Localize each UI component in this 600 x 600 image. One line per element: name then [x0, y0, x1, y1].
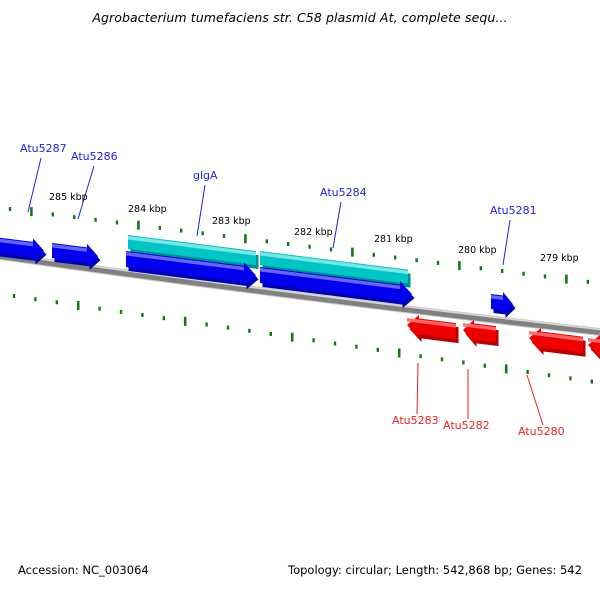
ruler-tick-label: 279 kbp [540, 253, 579, 264]
ruler-minor-tick [394, 256, 396, 260]
ruler-major-tick [30, 207, 33, 216]
ruler-minor-tick [34, 297, 36, 301]
ruler-minor-tick [73, 215, 75, 219]
ruler-minor-tick [373, 253, 375, 257]
ruler-minor-tick [544, 274, 546, 278]
gene-feature[interactable] [407, 315, 459, 343]
ruler-minor-tick [462, 361, 464, 365]
genome-map-canvas[interactable]: 285 kbp284 kbp283 kbp282 kbp281 kbp280 k… [0, 34, 600, 550]
ruler-minor-tick [484, 364, 486, 368]
ruler-minor-tick [223, 234, 225, 238]
ruler-minor-tick [330, 247, 332, 251]
gene-label[interactable]: glgA [193, 169, 218, 182]
ruler-minor-tick [205, 323, 207, 327]
ruler-minor-tick [591, 380, 593, 384]
gene-label[interactable]: Atu5281 [490, 204, 537, 217]
ruler-minor-tick [334, 342, 336, 346]
label-leader-line [197, 185, 205, 236]
ruler-tick-label: 284 kbp [128, 204, 167, 215]
label-leader-line [333, 202, 341, 248]
ruler-minor-tick [569, 376, 571, 380]
ruler-minor-tick [526, 370, 528, 374]
ruler-minor-tick [248, 329, 250, 333]
accession-text: Accession: NC_003064 [18, 563, 149, 577]
ruler-major-tick [244, 234, 247, 243]
ruler-tick-label: 280 kbp [458, 245, 497, 256]
ruler-minor-tick [227, 326, 229, 330]
ruler-minor-tick [587, 280, 589, 284]
ruler-major-tick [77, 301, 80, 310]
ruler-major-tick [291, 333, 294, 342]
gene-feature[interactable] [588, 335, 600, 362]
ruler-minor-tick [201, 231, 203, 235]
ruler-minor-tick [266, 239, 268, 243]
ruler-minor-tick [377, 348, 379, 352]
ruler-minor-tick [270, 332, 272, 336]
ruler-major-tick [565, 275, 568, 284]
gene-label[interactable]: Atu5283 [392, 414, 439, 427]
ruler-minor-tick [308, 245, 310, 249]
ruler-tick-label: 285 kbp [49, 192, 88, 203]
gene-label[interactable]: Atu5287 [20, 142, 67, 155]
ruler-major-tick [351, 248, 354, 257]
ruler-minor-tick [501, 269, 503, 273]
ruler-minor-tick [94, 218, 96, 222]
ruler-minor-tick [120, 310, 122, 314]
ruler-major-tick [137, 221, 140, 230]
gene-label[interactable]: Atu5286 [71, 150, 118, 163]
gene-feature[interactable] [463, 320, 499, 347]
window-title-bar: Agrobacterium tumefaciens str. C58 plasm… [0, 0, 600, 34]
ruler-minor-tick [312, 338, 314, 342]
label-leader-line [527, 375, 543, 425]
gene-label[interactable]: Atu5280 [518, 425, 565, 438]
ruler-minor-tick [437, 261, 439, 265]
ruler-minor-tick [522, 272, 524, 276]
ruler-minor-tick [13, 294, 15, 298]
ruler-minor-tick [415, 258, 417, 262]
ruler-minor-tick [441, 357, 443, 361]
gene-feature-body[interactable] [407, 315, 456, 339]
gene-label[interactable]: Atu5284 [320, 186, 367, 199]
ruler-major-tick [505, 364, 508, 373]
ruler-minor-tick [52, 212, 54, 216]
gene-label[interactable]: Atu5282 [443, 419, 490, 432]
ruler-tick-label: 281 kbp [374, 234, 413, 245]
ruler-major-tick [398, 349, 401, 358]
ruler-minor-tick [116, 220, 118, 224]
ruler-minor-tick [180, 229, 182, 233]
ruler-minor-tick [159, 226, 161, 230]
page-title: Agrobacterium tumefaciens str. C58 plasm… [92, 10, 507, 25]
ruler-major-tick [458, 261, 461, 270]
ruler-minor-tick [163, 316, 165, 320]
gene-feature[interactable] [491, 292, 516, 318]
status-bar: Accession: NC_003064 Topology: circular;… [0, 550, 600, 600]
ruler-minor-tick [287, 242, 289, 246]
ruler-minor-tick [355, 345, 357, 349]
label-leader-line [503, 220, 510, 265]
ruler-minor-tick [480, 266, 482, 270]
label-leader-line [417, 363, 418, 414]
ruler-minor-tick [56, 300, 58, 304]
ruler-minor-tick [98, 307, 100, 311]
genome-browser-window: Agrobacterium tumefaciens str. C58 plasm… [0, 0, 600, 600]
ruler-tick-label: 282 kbp [294, 227, 333, 238]
sequence-summary-text: Topology: circular; Length: 542,868 bp; … [288, 563, 582, 577]
label-leader-line [28, 158, 41, 212]
genome-map-svg[interactable]: 285 kbp284 kbp283 kbp282 kbp281 kbp280 k… [0, 34, 600, 550]
ruler-minor-tick [419, 354, 421, 358]
ruler-tick-label: 283 kbp [212, 216, 251, 227]
ruler-minor-tick [141, 313, 143, 317]
ruler-minor-tick [9, 207, 11, 211]
ruler-major-tick [184, 317, 187, 326]
ruler-minor-tick [548, 373, 550, 377]
